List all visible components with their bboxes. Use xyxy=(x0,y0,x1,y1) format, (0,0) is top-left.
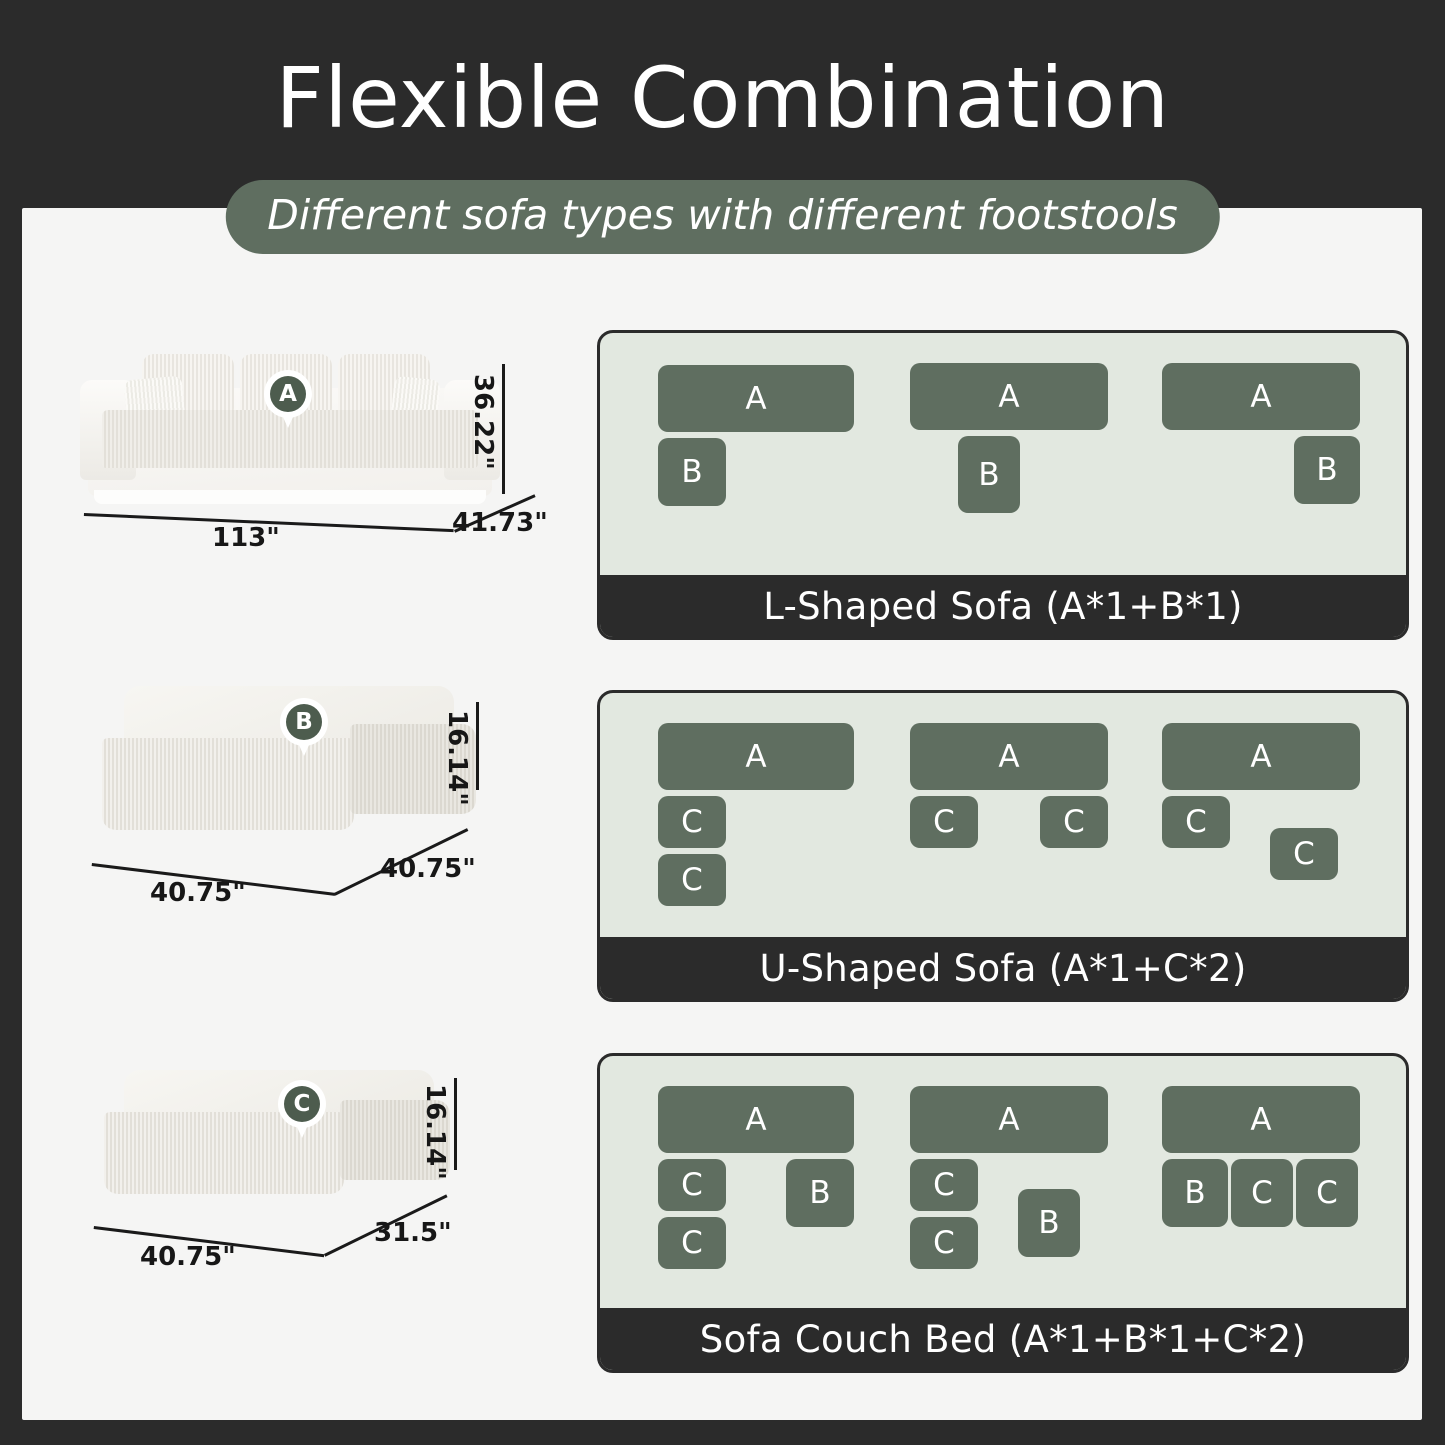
dim-label-depth: 40.75" xyxy=(380,854,476,884)
configuration-config-3: ABCC xyxy=(600,1056,1406,1308)
infographic-page: Flexible Combination Different sofa type… xyxy=(0,0,1445,1445)
panel-footer-label: L-Shaped Sofa (A*1+B*1) xyxy=(600,575,1406,637)
combination-panel-u-shaped: ACCACCACC U-Shaped Sofa (A*1+C*2) xyxy=(597,690,1409,1002)
module-block-c: C xyxy=(1270,828,1338,880)
content-canvas: A 113" 41.73" 36.22" xyxy=(22,208,1422,1420)
dim-line-height xyxy=(502,364,505,494)
dim-label-width: 40.75" xyxy=(150,878,246,908)
module-block-c: C xyxy=(1231,1159,1293,1227)
pin-marker-a: A xyxy=(264,370,312,430)
module-block-a: A xyxy=(1162,1086,1360,1153)
dim-label-width: 113" xyxy=(212,523,280,553)
dim-line-height xyxy=(476,702,479,790)
pin-head-icon: B xyxy=(280,698,328,746)
pin-label: A xyxy=(270,376,306,412)
module-block-c: C xyxy=(1296,1159,1358,1227)
panel-body: ACCACCACC xyxy=(600,693,1406,937)
dim-label-depth: 31.5" xyxy=(374,1218,452,1248)
dim-label-width: 40.75" xyxy=(140,1242,236,1272)
dim-label-height: 16.14" xyxy=(442,710,472,806)
page-title: Flexible Combination xyxy=(0,54,1445,142)
product-footstool-c: C 40.75" 31.5" 16.14" xyxy=(62,1058,582,1308)
pin-label: C xyxy=(284,1086,320,1122)
module-block-a: A xyxy=(1162,363,1360,430)
panel-footer-label: U-Shaped Sofa (A*1+C*2) xyxy=(600,937,1406,999)
module-block-b: B xyxy=(1294,436,1360,504)
panel-footer-label: Sofa Couch Bed (A*1+B*1+C*2) xyxy=(600,1308,1406,1370)
pin-marker-b: B xyxy=(280,698,328,758)
pin-label: B xyxy=(286,704,322,740)
dim-label-height: 36.22" xyxy=(468,374,498,470)
product-sofa-a: A 113" 41.73" 36.22" xyxy=(62,348,582,578)
panel-body: ABABAB xyxy=(600,333,1406,575)
subtitle-pill: Different sofa types with different foot… xyxy=(225,180,1219,254)
panel-body: ACCBACCBABCC xyxy=(600,1056,1406,1308)
combination-panel-l-shaped: ABABAB L-Shaped Sofa (A*1+B*1) xyxy=(597,330,1409,640)
sofa-skirt xyxy=(94,490,486,504)
product-footstool-b: B 40.75" 40.75" 16.14" xyxy=(62,678,582,928)
configuration-config-3: AB xyxy=(600,333,1406,575)
pin-head-icon: A xyxy=(264,370,312,418)
dim-label-depth: 41.73" xyxy=(452,508,548,538)
module-block-c: C xyxy=(1162,796,1230,848)
pin-head-icon: C xyxy=(278,1080,326,1128)
dim-line-height xyxy=(454,1078,457,1170)
configuration-config-3: ACC xyxy=(600,693,1406,937)
dim-label-height: 16.14" xyxy=(420,1084,450,1180)
combination-panel-sofa-couch-bed: ACCBACCBABCC Sofa Couch Bed (A*1+B*1+C*2… xyxy=(597,1053,1409,1373)
pin-marker-c: C xyxy=(278,1080,326,1140)
module-block-a: A xyxy=(1162,723,1360,790)
module-block-b: B xyxy=(1162,1159,1228,1227)
